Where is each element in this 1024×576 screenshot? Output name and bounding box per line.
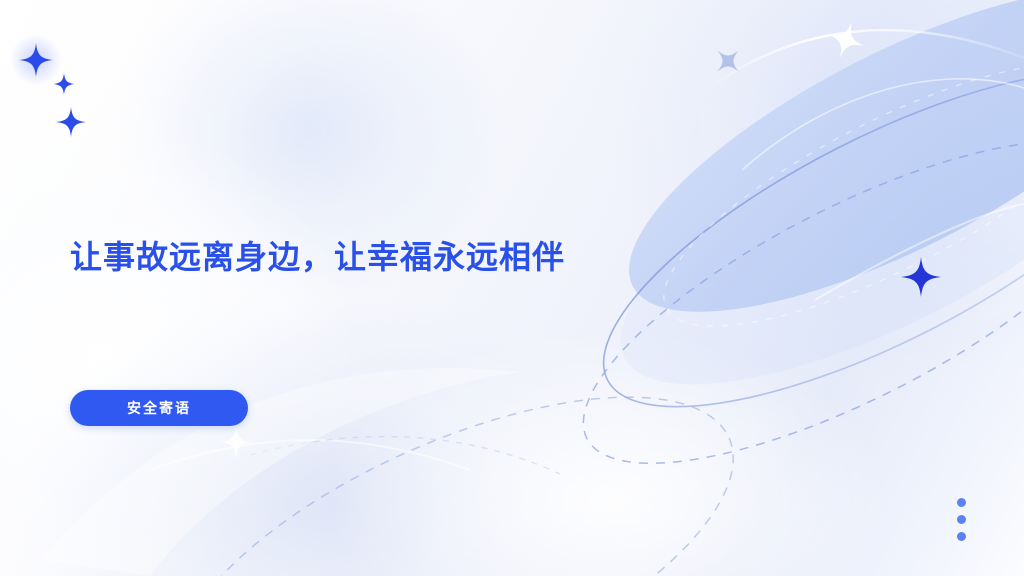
page-title: 让事故远离身边，让幸福永远相伴	[70, 236, 565, 279]
background-gradient	[0, 0, 1024, 576]
pager-dot-3[interactable]	[957, 532, 966, 541]
safety-message-button[interactable]: 安全寄语	[70, 390, 248, 426]
pager-dot-1[interactable]	[957, 498, 966, 507]
pager-dot-2[interactable]	[957, 515, 966, 524]
slide-canvas: 让事故远离身边，让幸福永远相伴 安全寄语	[0, 0, 1024, 576]
pager-dots[interactable]	[957, 498, 966, 541]
